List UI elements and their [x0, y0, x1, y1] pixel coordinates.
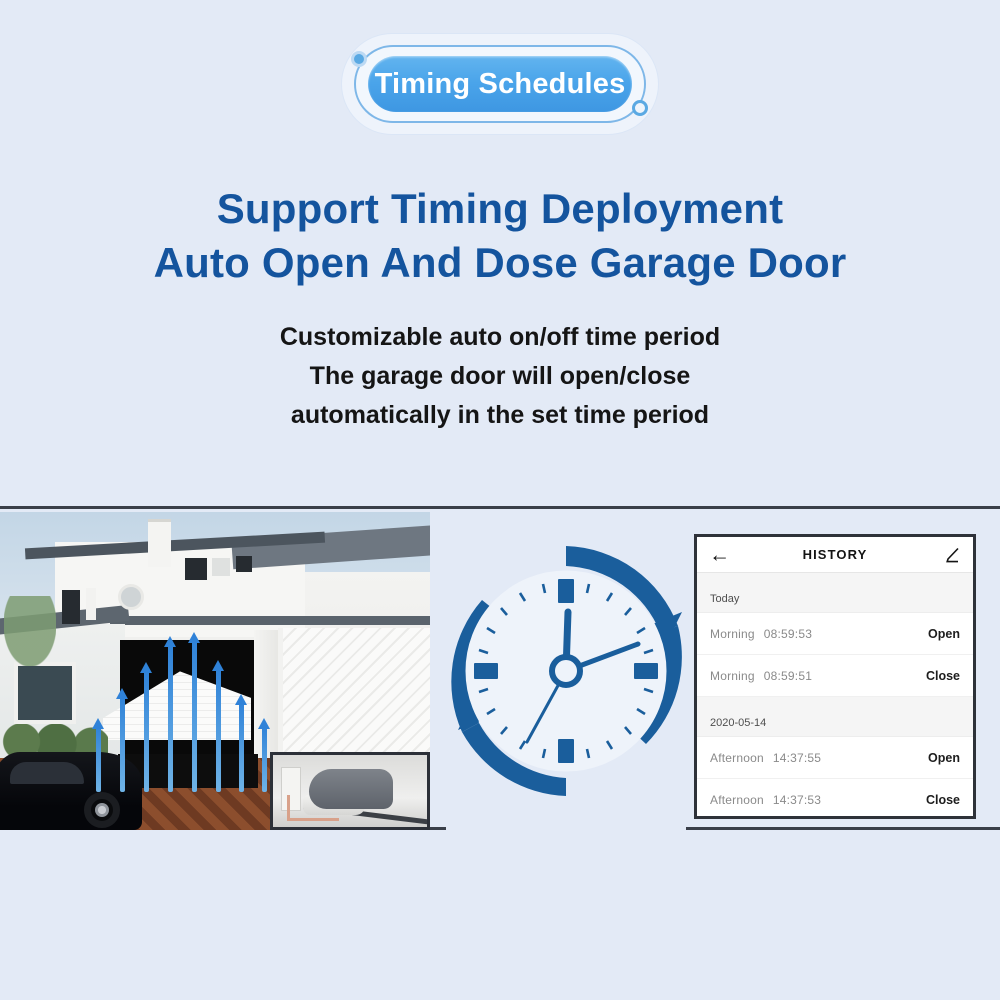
page-title: Support Timing Deployment Auto Open And …: [0, 182, 1000, 290]
history-row-action: Open: [928, 627, 960, 641]
badge-pill: Timing Schedules: [368, 56, 632, 112]
history-panel: ← HISTORY Today Morning08:59:53 Open Mor…: [694, 534, 976, 819]
history-top-bar: ← HISTORY: [697, 537, 973, 573]
badge-dot-top-left-icon: [351, 51, 367, 67]
pencil-icon[interactable]: [944, 547, 960, 563]
opener-conduit: [287, 795, 339, 821]
history-row-time: Afternoon14:37:53: [710, 793, 821, 807]
clock-center-pin: [552, 657, 580, 685]
page-subtitle: Customizable auto on/off time period The…: [0, 318, 1000, 435]
up-arrow-icon: [192, 640, 197, 792]
up-arrow-icon: [239, 702, 244, 792]
history-section-header: 2020-05-14: [697, 697, 973, 737]
up-arrow-icon: [216, 668, 221, 792]
clock-with-circular-arrows: [446, 534, 686, 808]
timing-schedules-badge: Timing Schedules: [342, 34, 658, 134]
car-wheel: [84, 792, 120, 828]
roof-eave-lower: [110, 616, 430, 625]
subhead-line-2: The garage door will open/close: [0, 357, 1000, 396]
history-row-time: Morning08:59:51: [710, 669, 812, 683]
upward-arrows-overlay: [96, 632, 276, 792]
up-arrow-icon: [144, 670, 149, 792]
window-ground-floor: [14, 662, 76, 724]
car-window: [10, 762, 84, 784]
history-section-header: Today: [697, 573, 973, 613]
history-row-time: Afternoon14:37:55: [710, 751, 821, 765]
garage-door-opener-motor-inset: [270, 752, 430, 830]
history-row[interactable]: Afternoon14:37:55 Open: [697, 737, 973, 779]
up-arrow-icon: [96, 726, 101, 792]
history-row-time: Morning08:59:53: [710, 627, 812, 641]
history-row-action: Open: [928, 751, 960, 765]
back-arrow-icon[interactable]: ←: [709, 544, 730, 565]
headline-line-1: Support Timing Deployment: [0, 182, 1000, 236]
headline-line-2: Auto Open And Dose Garage Door: [0, 236, 1000, 290]
up-arrow-icon: [120, 696, 125, 792]
history-row[interactable]: Morning08:59:51 Close: [697, 655, 973, 697]
window-dormer-2: [212, 558, 230, 576]
up-arrow-icon: [168, 644, 173, 792]
illustration-band: ← HISTORY Today Morning08:59:53 Open Mor…: [0, 506, 1000, 830]
round-window: [118, 584, 144, 610]
up-arrow-icon: [262, 726, 267, 792]
badge-label: Timing Schedules: [375, 68, 626, 101]
badge-dot-bottom-right-icon: [632, 100, 648, 116]
chimney: [148, 519, 171, 567]
history-row[interactable]: Afternoon14:37:53 Close: [697, 779, 973, 819]
subhead-line-1: Customizable auto on/off time period: [0, 318, 1000, 357]
history-row-action: Close: [926, 793, 960, 807]
history-row-action: Close: [926, 669, 960, 683]
clock-illustration-panel: [446, 512, 686, 830]
history-row[interactable]: Morning08:59:53 Open: [697, 613, 973, 655]
window-dormer-1: [185, 558, 207, 580]
history-title: HISTORY: [697, 547, 973, 562]
window-upper-2: [86, 588, 96, 620]
garage-door-opening-photo: [0, 512, 430, 830]
subhead-line-3: automatically in the set time period: [0, 396, 1000, 435]
window-dormer-3: [236, 556, 252, 572]
window-upper-1: [62, 590, 80, 624]
tree: [4, 596, 56, 666]
